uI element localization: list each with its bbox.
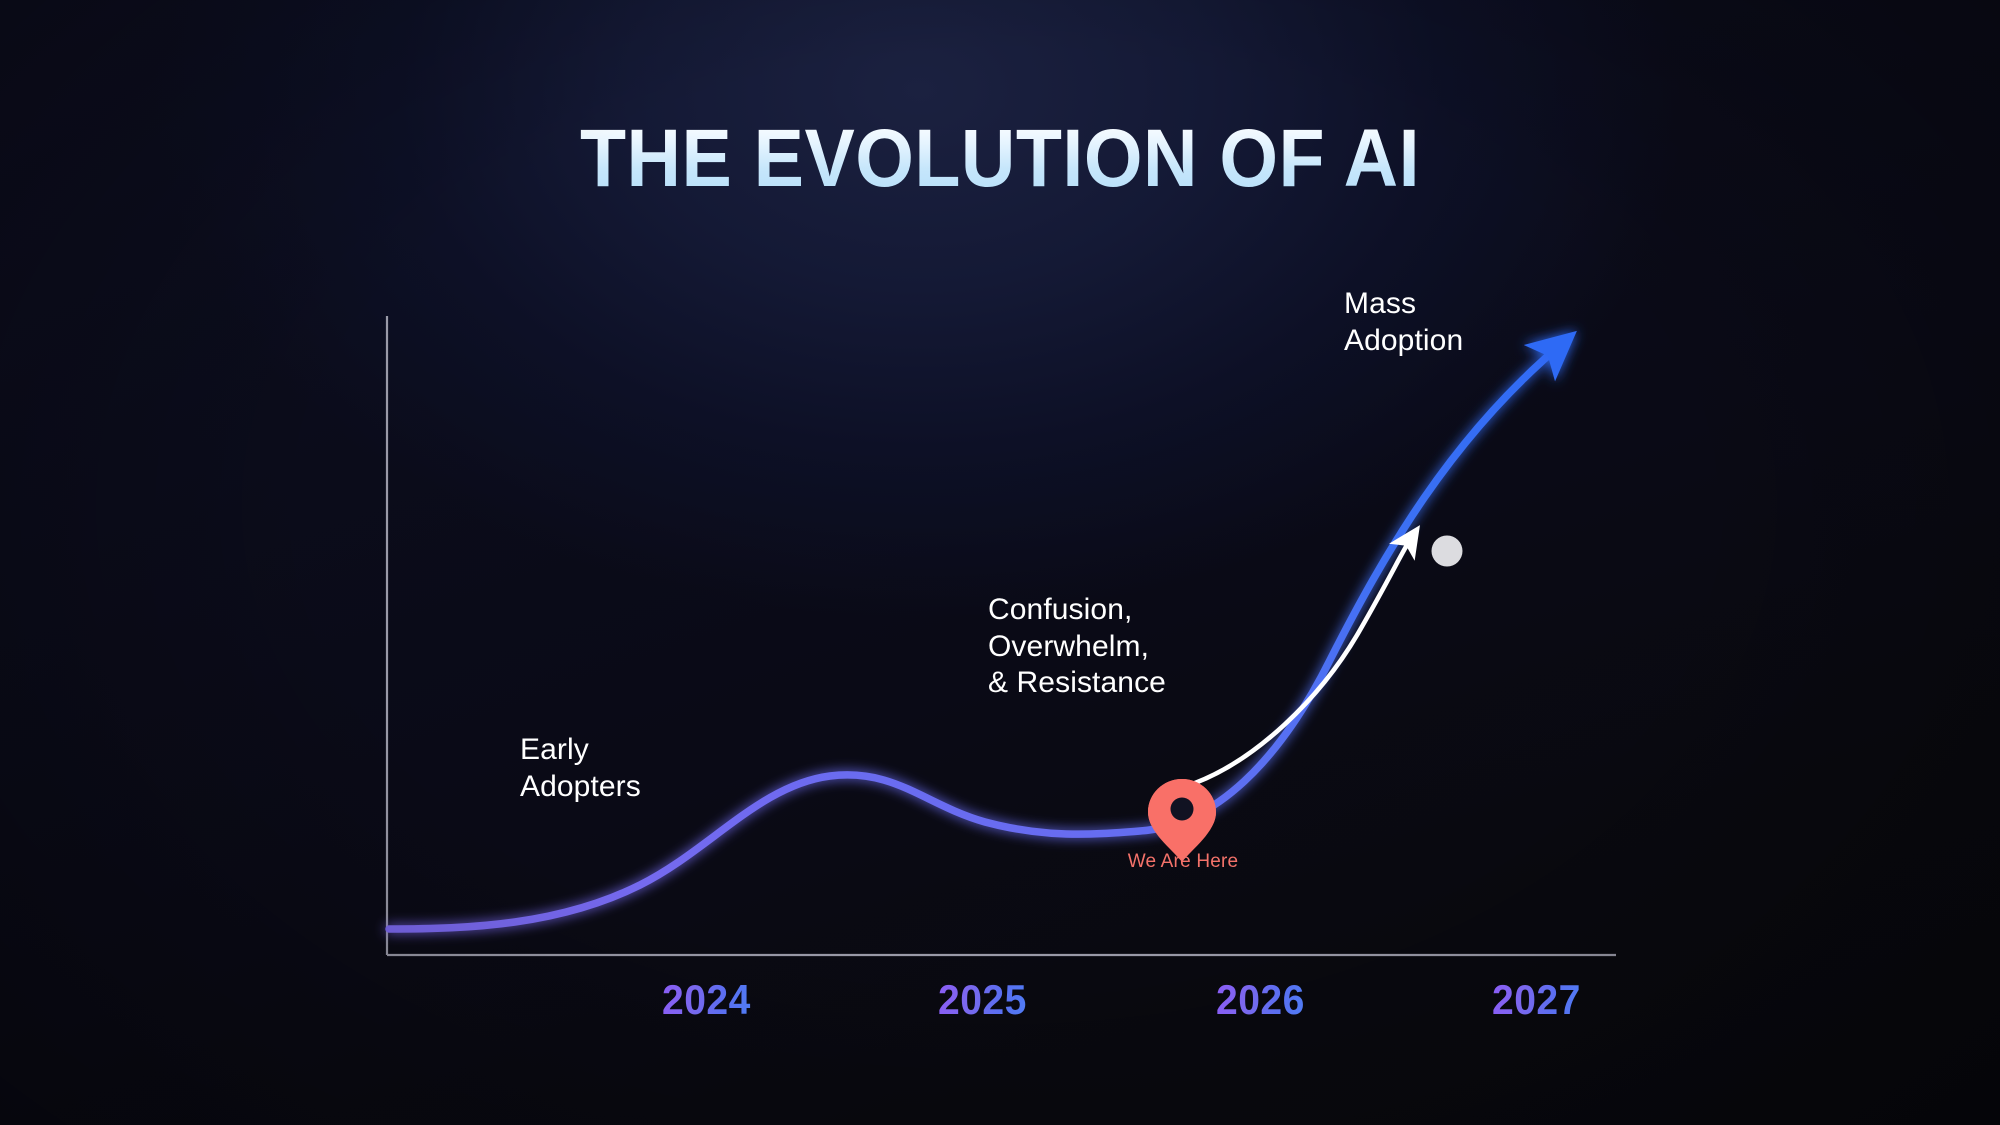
annotation-early-adopters: Early Adopters [520,732,641,805]
slide-canvas: THE EVOLUTION OF AI [0,0,2000,1125]
we-are-here-pin-icon[interactable] [1148,779,1216,862]
x-tick-label-2024: 2024 [662,976,751,1024]
evolution-chart [0,0,2000,1125]
x-tick-label-2027: 2027 [1492,976,1581,1024]
x-tick-label-2025: 2025 [938,976,1027,1024]
progress-dot-marker[interactable] [1432,536,1463,567]
x-tick-label-2026: 2026 [1216,976,1305,1024]
annotation-confusion: Confusion, Overwhelm, & Resistance [988,592,1166,702]
adoption-curve [389,348,1557,929]
annotation-mass-adoption: Mass Adoption [1344,286,1463,359]
we-are-here-label: We Are Here [1125,851,1241,873]
